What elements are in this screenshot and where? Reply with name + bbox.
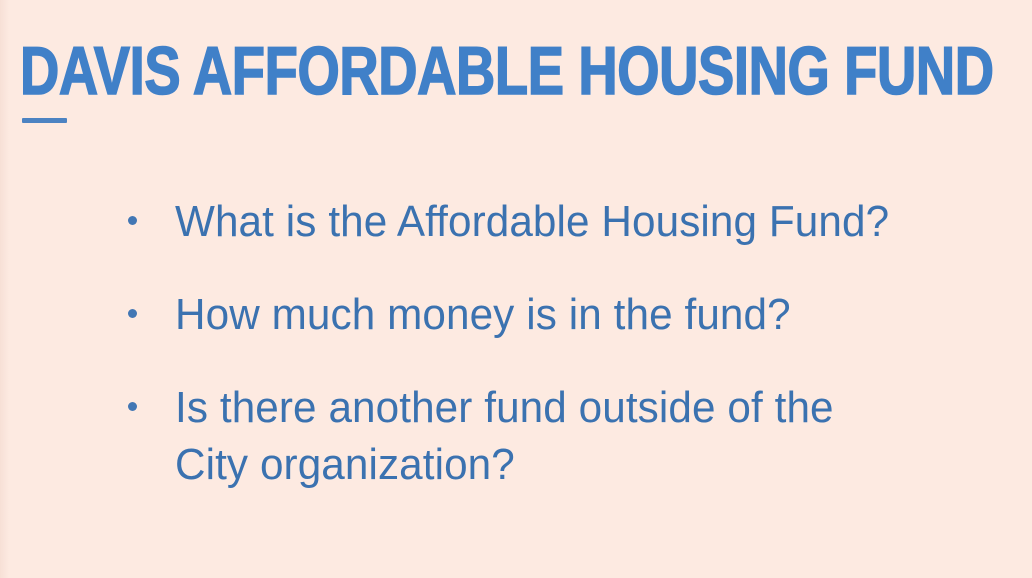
title-block: Davis Affordable Housing Fund	[20, 36, 960, 106]
presentation-slide: Davis Affordable Housing Fund What is th…	[0, 0, 1032, 578]
bullet-dot-icon	[128, 402, 137, 411]
bullet-list: What is the Affordable Housing Fund? How…	[128, 193, 988, 493]
bullet-dot-icon	[128, 309, 137, 318]
list-item: What is the Affordable Housing Fund?	[128, 193, 988, 250]
title-underline-accent	[22, 118, 67, 123]
slide-left-edge-band	[0, 0, 9, 578]
list-item-label: How much money is in the fund?	[175, 286, 955, 343]
list-item: How much money is in the fund?	[128, 286, 988, 343]
page-title: Davis Affordable Housing Fund	[20, 36, 772, 106]
list-item: Is there another fund outside of the Cit…	[128, 379, 988, 493]
bullet-dot-icon	[128, 216, 137, 225]
list-item-label: Is there another fund outside of the Cit…	[175, 379, 955, 493]
list-item-label: What is the Affordable Housing Fund?	[175, 193, 955, 250]
